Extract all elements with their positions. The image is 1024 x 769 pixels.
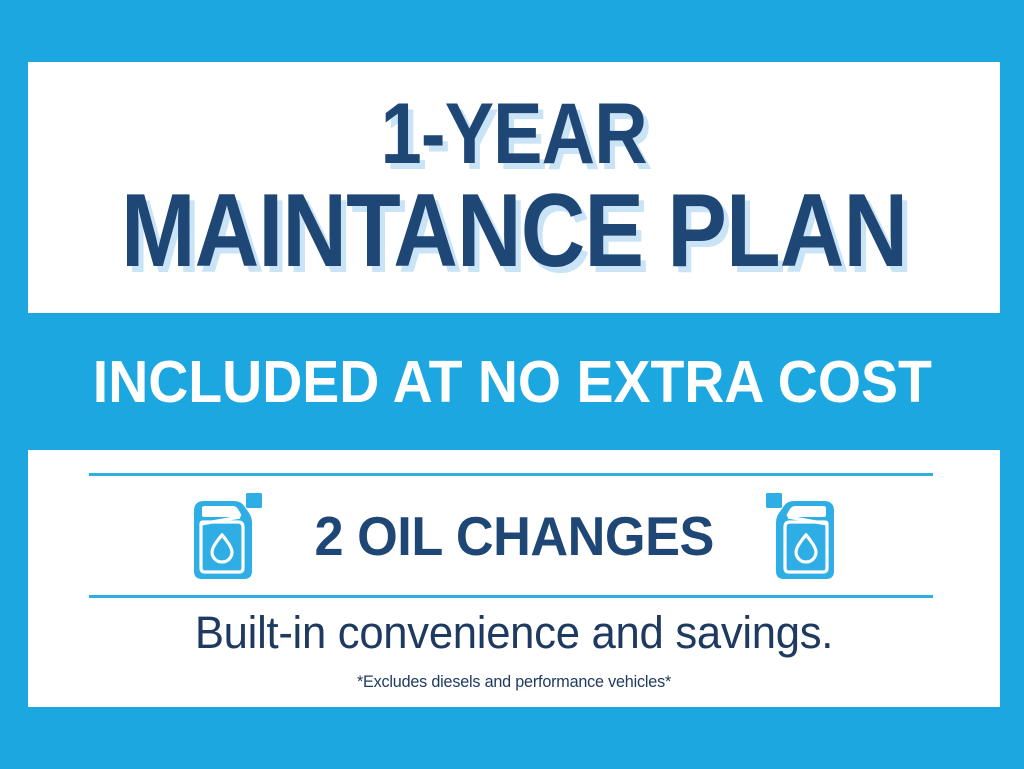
divider-bottom [89,595,933,598]
offer-card: 2 OIL CHANGES Built-in convenience and s… [28,450,1000,707]
subtitle-band: INCLUDED AT NO EXTRA COST [0,313,1024,450]
oil-can-icon-left [190,491,264,581]
oil-can-icon-right [764,491,838,581]
fineprint-disclaimer: *Excludes diesels and performance vehicl… [52,672,975,692]
promo-poster: 1-YEAR MAINTANCE PLAN INCLUDED AT NO EXT… [0,0,1024,769]
headline-line-1: 1-YEAR [381,94,647,175]
tagline: Built-in convenience and savings. [43,607,986,659]
headline-line-2: MAINTANCE PLAN [121,183,907,281]
offer-row: 2 OIL CHANGES [28,476,1000,595]
headline-card: 1-YEAR MAINTANCE PLAN [28,62,1000,313]
offer-label: 2 OIL CHANGES [314,504,713,568]
subtitle-text: INCLUDED AT NO EXTRA COST [92,348,931,416]
